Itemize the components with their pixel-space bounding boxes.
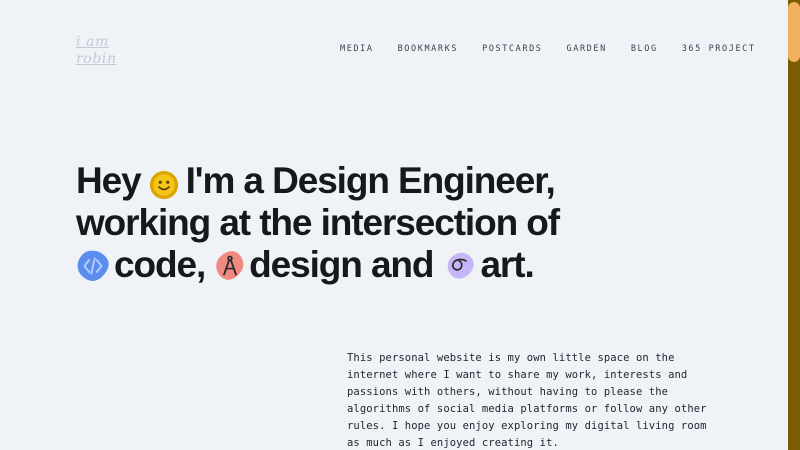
page-root: i am robin MEDIA BOOKMARKS POSTCARDS GAR…	[0, 0, 788, 450]
nav-link-365-project[interactable]: 365 PROJECT	[682, 44, 756, 54]
nav-link-media[interactable]: MEDIA	[340, 44, 374, 54]
nav-link-blog[interactable]: BLOG	[631, 44, 658, 54]
nav-link-bookmarks[interactable]: BOOKMARKS	[398, 44, 458, 54]
art-swirl-blob-icon	[443, 249, 477, 283]
hero-line-2-text: working at the intersection of	[76, 202, 559, 244]
hero-line-1-text-before: Hey	[76, 160, 141, 202]
page-scrollbar[interactable]	[788, 0, 800, 450]
hero-line-1: Hey I'm a Design Engineer,	[76, 160, 716, 202]
site-header: i am robin MEDIA BOOKMARKS POSTCARDS GAR…	[0, 0, 788, 100]
hero-line-2: working at the intersection of	[76, 202, 716, 244]
hero-line-3: code, design and art.	[76, 244, 716, 286]
hero-line-3-text-design: design and	[249, 244, 433, 286]
main-nav: MEDIA BOOKMARKS POSTCARDS GARDEN BLOG 36…	[340, 44, 756, 54]
nav-link-postcards[interactable]: POSTCARDS	[482, 44, 542, 54]
hero-line-3-text-code: code,	[114, 244, 205, 286]
smiley-face-emoji	[149, 167, 179, 197]
nav-link-garden[interactable]: GARDEN	[567, 44, 607, 54]
code-blob-icon	[76, 249, 110, 283]
hero-line-1-text-after: I'm a Design Engineer,	[186, 160, 555, 202]
hero-heading: Hey I'm a Design Engineer, working at th…	[76, 160, 716, 286]
design-compass-blob-icon	[213, 249, 247, 283]
hero-line-3-text-art: art.	[480, 244, 533, 286]
intro-paragraph: This personal website is my own little s…	[347, 350, 717, 450]
scrollbar-thumb[interactable]	[788, 2, 800, 62]
site-logo[interactable]: i am robin	[76, 34, 117, 68]
